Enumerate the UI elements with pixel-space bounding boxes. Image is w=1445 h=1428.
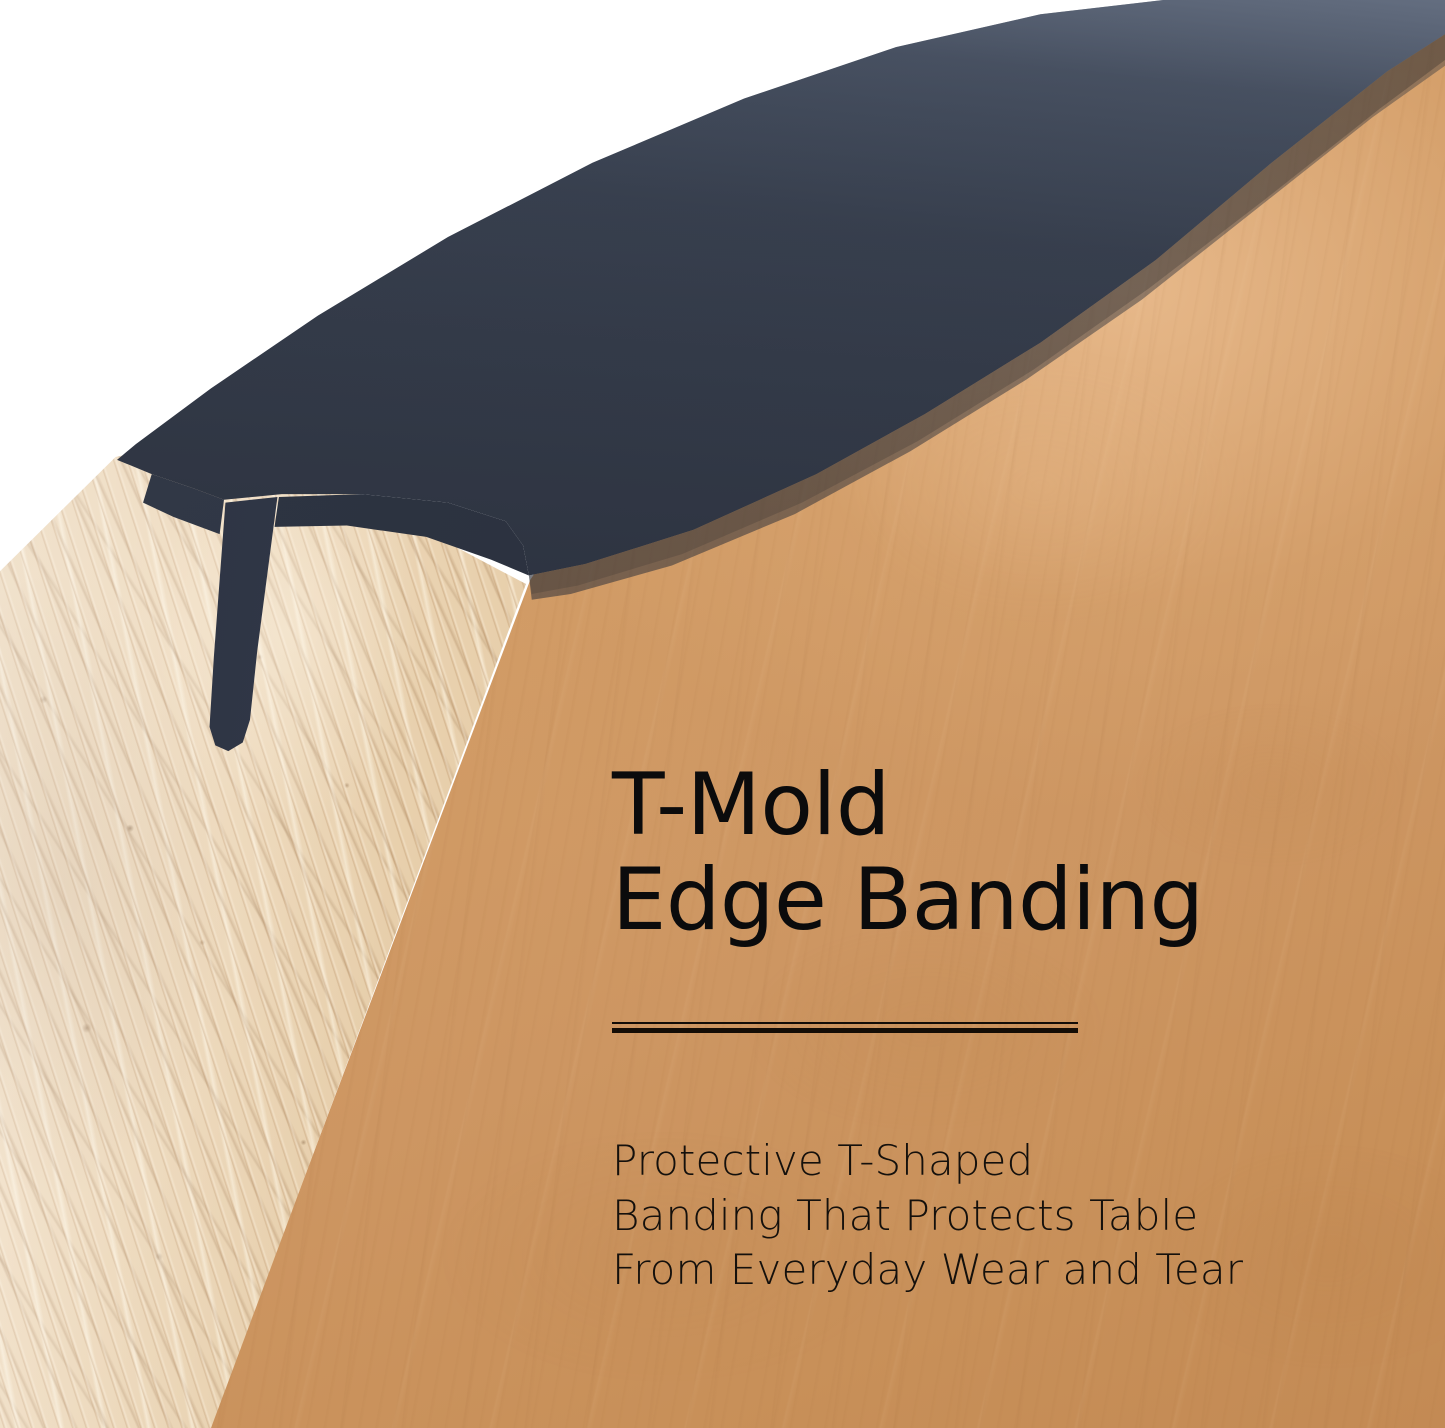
- page-title: T-Mold Edge Banding: [612, 758, 1372, 947]
- divider-thin-line: [612, 1022, 1078, 1024]
- divider-thick-line: [612, 1028, 1078, 1033]
- product-infographic: T-Mold Edge Banding Protective T-Shaped …: [0, 0, 1445, 1428]
- headline-block: T-Mold Edge Banding: [612, 758, 1372, 947]
- divider: [612, 1022, 1078, 1033]
- description-text: Protective T-Shaped Banding That Protect…: [612, 1134, 1352, 1298]
